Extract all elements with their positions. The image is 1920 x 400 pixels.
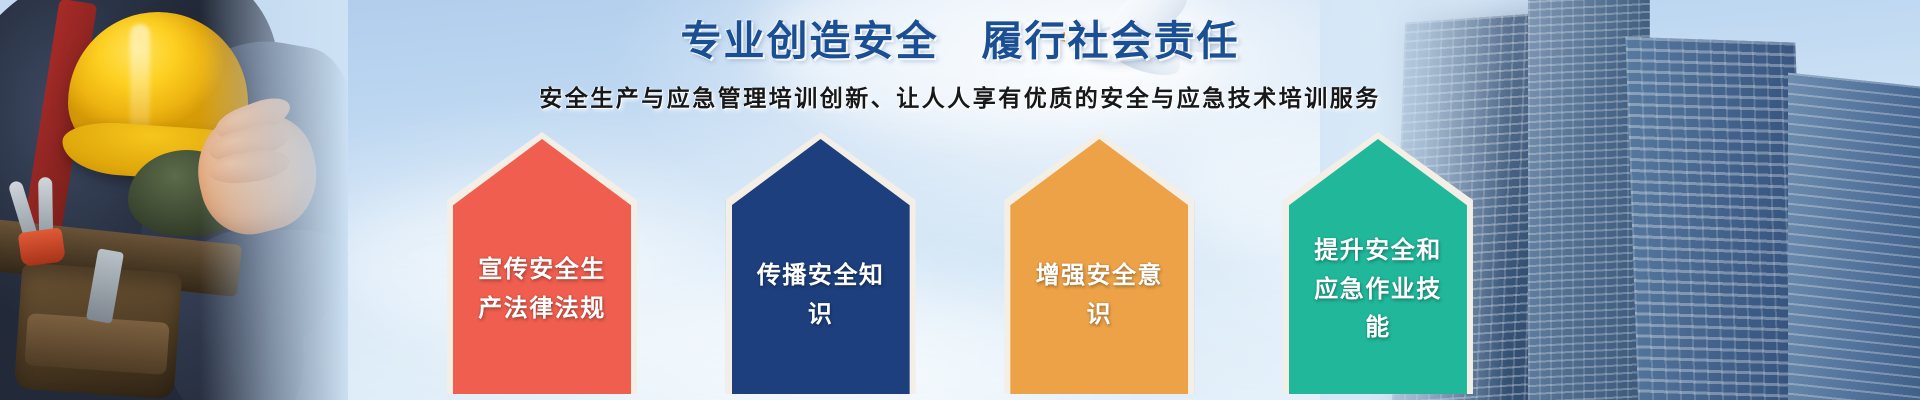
banner-title: 专业创造安全 履行社会责任 — [0, 0, 1920, 67]
banner-subtitle: 安全生产与应急管理培训创新、让人人享有优质的安全与应急技术培训服务 — [0, 67, 1920, 113]
hex-card-skills[interactable]: 提升安全和应急作业技能 — [1283, 132, 1473, 394]
tool-pouch-flap — [24, 313, 169, 375]
tower-icon — [1788, 73, 1920, 400]
hex-card-label: 传播安全知识 — [746, 256, 896, 334]
pliers-icon — [0, 173, 85, 267]
hex-card-label: 提升安全和应急作业技能 — [1303, 231, 1453, 348]
headline-block: 专业创造安全 履行社会责任 安全生产与应急管理培训创新、让人人享有优质的安全与应… — [0, 0, 1920, 113]
hex-card-laws[interactable]: 宣传安全生产法律法规 — [447, 132, 637, 394]
hex-card-awareness[interactable]: 增强安全意识 — [1004, 132, 1194, 394]
hex-card-label: 增强安全意识 — [1024, 256, 1174, 334]
pliers-grip — [18, 227, 66, 267]
hex-card-label: 宣传安全生产法律法规 — [467, 250, 617, 328]
hexagon-card-row: 宣传安全生产法律法规 传播安全知识 增强安全意识 提升安全和应急作业技能 — [447, 132, 1473, 400]
hex-card-knowledge[interactable]: 传播安全知识 — [726, 132, 916, 394]
safety-training-banner: 专业创造安全 履行社会责任 安全生产与应急管理培训创新、让人人享有优质的安全与应… — [0, 0, 1920, 400]
